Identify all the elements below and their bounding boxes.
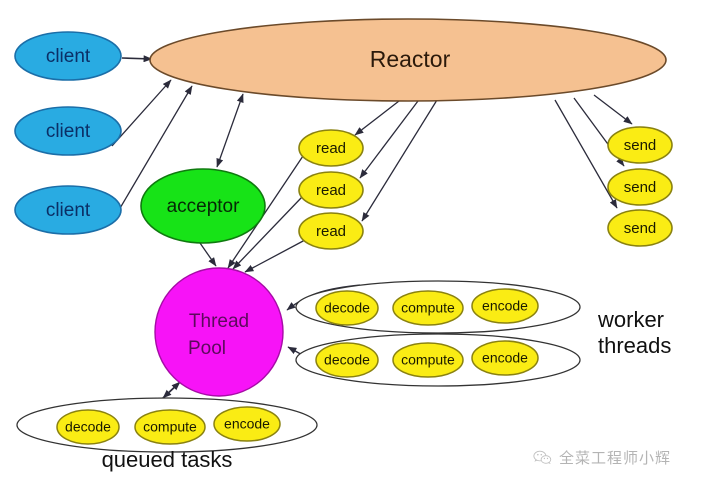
read-label-1: read: [316, 140, 346, 157]
acceptor-label: acceptor: [167, 196, 241, 217]
queued-task-encode[interactable]: encode: [214, 407, 280, 441]
decode-label-w1: decode: [324, 300, 370, 316]
wechat-icon: [533, 450, 552, 466]
thread-pool-label-line1: Thread: [189, 311, 249, 332]
reactor-diagram: client client client Reactor acceptor re…: [0, 0, 727, 494]
compute-label-queued: compute: [143, 419, 197, 435]
diagram-canvas: client client client Reactor acceptor re…: [0, 0, 727, 494]
worker-threads-label-line2: threads: [598, 333, 671, 358]
compute-label-w1: compute: [401, 300, 455, 316]
encode-label-w1: encode: [482, 298, 528, 314]
queued-task-decode[interactable]: decode: [57, 410, 119, 444]
worker-2-task-compute[interactable]: compute: [393, 343, 463, 377]
read-node-2[interactable]: read: [299, 172, 363, 208]
read-label-3: read: [316, 223, 346, 240]
client-node-1[interactable]: client: [15, 32, 121, 80]
thread-pool-node[interactable]: Thread Pool: [155, 268, 283, 396]
queued-task-compute[interactable]: compute: [135, 410, 205, 444]
worker-2-task-encode[interactable]: encode: [472, 341, 538, 375]
client-node-2[interactable]: client: [15, 107, 121, 155]
watermark-text: 全菜工程师小辉: [559, 447, 671, 468]
edge-reactor-to-read-2: [360, 101, 418, 178]
edge-threadpool-queued-tasks: [163, 382, 180, 398]
client-label-2: client: [46, 121, 91, 142]
send-node-2[interactable]: send: [608, 169, 672, 205]
client-label-1: client: [46, 46, 91, 67]
send-node-1[interactable]: send: [608, 127, 672, 163]
encode-label-w2: encode: [482, 350, 528, 366]
send-label-1: send: [624, 137, 657, 154]
worker-1-task-decode[interactable]: decode: [316, 291, 378, 325]
edge-reactor-to-send-1: [594, 95, 632, 124]
client-label-3: client: [46, 200, 91, 221]
reactor-node[interactable]: Reactor: [150, 19, 666, 101]
read-label-2: read: [316, 182, 346, 199]
worker-threads-label-line1: worker: [597, 307, 664, 332]
edge-acceptor-to-threadpool: [200, 243, 216, 266]
client-node-3[interactable]: client: [15, 186, 121, 234]
watermark: 全菜工程师小辉: [533, 447, 671, 468]
compute-label-w2: compute: [401, 352, 455, 368]
send-label-2: send: [624, 179, 657, 196]
worker-1-task-compute[interactable]: compute: [393, 291, 463, 325]
read-node-1[interactable]: read: [299, 130, 363, 166]
worker-1-task-encode[interactable]: encode: [472, 289, 538, 323]
edge-reactor-to-send-3: [555, 100, 617, 208]
edge-reactor-to-read-1: [355, 101, 399, 135]
queued-tasks-label: queued tasks: [102, 447, 233, 472]
edge-reactor-acceptor: [217, 94, 243, 167]
send-label-3: send: [624, 220, 657, 237]
encode-label-queued: encode: [224, 416, 270, 432]
reactor-label: Reactor: [370, 46, 451, 72]
worker-2-task-decode[interactable]: decode: [316, 343, 378, 377]
thread-pool-label-line2: Pool: [188, 338, 226, 359]
send-node-3[interactable]: send: [608, 210, 672, 246]
read-node-3[interactable]: read: [299, 213, 363, 249]
acceptor-node[interactable]: acceptor: [141, 169, 265, 243]
decode-label-queued: decode: [65, 419, 111, 435]
edge-read-3-to-threadpool: [245, 240, 305, 272]
edge-client-1-to-reactor: [122, 58, 152, 59]
decode-label-w2: decode: [324, 352, 370, 368]
